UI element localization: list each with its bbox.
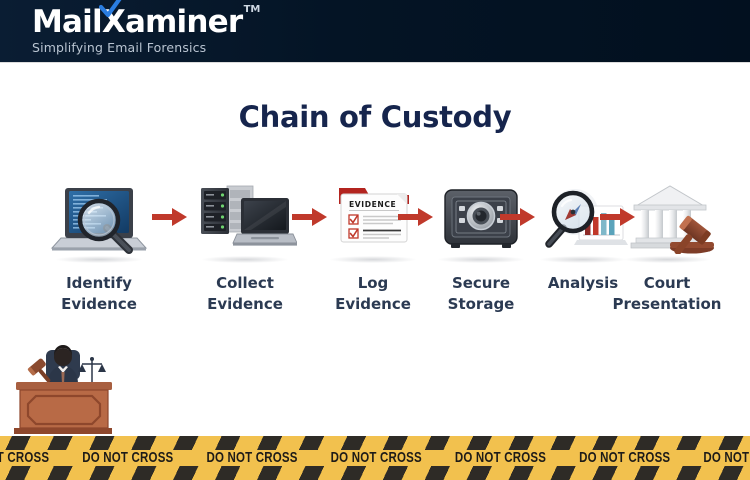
- logo-prefix: Mail: [32, 4, 102, 40]
- flow-step-collect-evidence[interactable]: Collect Evidence: [186, 178, 304, 316]
- trademark-symbol: TM: [244, 5, 261, 15]
- caution-tape-word: DO NOT CROSS: [82, 451, 173, 466]
- caution-tape-word: DO NOT CROSS: [579, 451, 670, 466]
- logo-tagline: Simplifying Email Forensics: [32, 40, 242, 55]
- evidence-doc-title: EVIDENCE: [349, 200, 396, 209]
- flow-step-label: Collect Evidence: [186, 273, 304, 316]
- court-presentation-icon-box: [592, 178, 742, 254]
- caution-tape-word: DO NOT CROSS: [455, 451, 546, 466]
- flow-step-log-evidence[interactable]: EVIDENCE: [314, 178, 432, 316]
- icon-shadow: [202, 256, 288, 263]
- flow-step-label-line2: Storage: [422, 294, 540, 315]
- identify-evidence-icon-box: [40, 178, 158, 254]
- flow-step-label-line1: Identify: [40, 273, 158, 294]
- flow-step-secure-storage[interactable]: Secure Storage: [422, 178, 540, 316]
- judge-bench-icon: [8, 336, 118, 436]
- page-header: MailXaminerTM Simplifying Email Forensic…: [0, 0, 750, 63]
- caution-tape: DO NOT CROSSDO NOT CROSSDO NOT CROSSDO N…: [0, 436, 750, 480]
- logo-x-letter: X: [102, 7, 125, 38]
- logo-suffix: aminer: [125, 4, 242, 40]
- icon-shadow: [56, 256, 142, 263]
- caution-tape-word: DO NOT CROSS: [0, 451, 49, 466]
- laptop-magnifier-icon: [47, 180, 151, 254]
- server-laptop-icon: [193, 180, 297, 254]
- flow-step-label-line2: Evidence: [314, 294, 432, 315]
- flow-step-label-line2: Evidence: [186, 294, 304, 315]
- icon-shadow: [624, 256, 710, 263]
- flow-step-label: Court Presentation: [592, 273, 742, 316]
- page-title: Chain of Custody: [0, 100, 750, 134]
- icon-shadow: [438, 256, 524, 263]
- collect-evidence-icon-box: [186, 178, 304, 254]
- flow-step-label-line1: Log: [314, 273, 432, 294]
- flow-step-label: Log Evidence: [314, 273, 432, 316]
- caution-tape-word: DO NOT CROSS: [331, 451, 422, 466]
- mailxaminer-logo[interactable]: MailXaminerTM Simplifying Email Forensic…: [32, 7, 242, 55]
- chain-of-custody-flow: Identify Evidence: [40, 178, 710, 328]
- courthouse-gavel-icon: [612, 180, 722, 254]
- flow-step-identify-evidence[interactable]: Identify Evidence: [40, 178, 158, 316]
- slide-canvas: MailXaminerTM Simplifying Email Forensic…: [0, 0, 750, 480]
- flow-step-label: Secure Storage: [422, 273, 540, 316]
- flow-step-label-line1: Collect: [186, 273, 304, 294]
- flow-arrow-1: [152, 206, 188, 228]
- caution-tape-word: DO NOT CROSS: [703, 451, 750, 466]
- caution-tape-text-row: DO NOT CROSSDO NOT CROSSDO NOT CROSSDO N…: [0, 449, 750, 467]
- caution-tape-band-top: [0, 436, 750, 450]
- logo-x-glyph: X: [102, 4, 125, 40]
- caution-tape-band-bottom: [0, 466, 750, 480]
- caution-tape-word: DO NOT CROSS: [206, 451, 297, 466]
- icon-shadow: [330, 256, 416, 263]
- flow-step-label-line1: Court: [592, 273, 742, 294]
- flow-step-label-line2: Presentation: [592, 294, 742, 315]
- logo-wordmark: MailXaminerTM: [32, 7, 242, 38]
- flow-step-court-presentation[interactable]: Court Presentation: [592, 178, 742, 316]
- flow-step-label-line2: Evidence: [40, 294, 158, 315]
- flow-step-label-line1: Secure: [422, 273, 540, 294]
- flow-step-label: Identify Evidence: [40, 273, 158, 316]
- judge-bench-illustration: [8, 336, 118, 436]
